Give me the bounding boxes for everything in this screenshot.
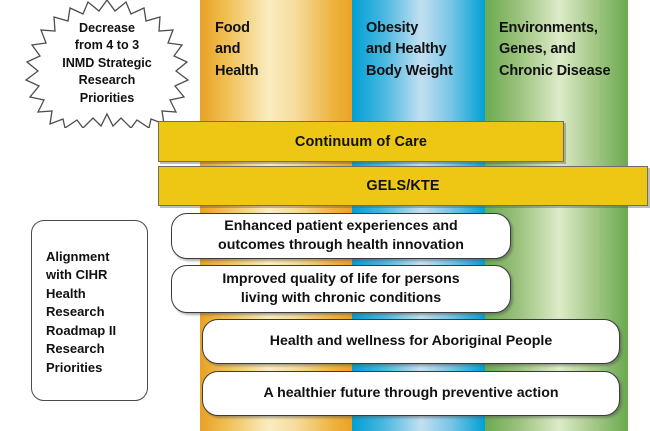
priority-pill-label-3: Health and wellness for Aboriginal Peopl… xyxy=(260,332,563,351)
bar-label-gels-kte: GELS/KTE xyxy=(366,178,439,194)
priority-pill-improved-quality-of-life[interactable]: Improved quality of life for persons liv… xyxy=(171,265,511,313)
column-label-food-and-health: Food and Health xyxy=(215,18,258,82)
column-label-obesity-and-healthy-body-weight: Obesity and Healthy Body Weight xyxy=(366,18,453,82)
diagram-canvas: Food and Health Obesity and Healthy Body… xyxy=(0,0,650,431)
alignment-card-text: Alignment with CIHR Health Research Road… xyxy=(46,248,139,377)
alignment-card: Alignment with CIHR Health Research Road… xyxy=(31,220,148,401)
priority-pill-label-2: Improved quality of life for persons liv… xyxy=(212,270,469,307)
bar-gels-kte[interactable]: GELS/KTE xyxy=(158,166,648,206)
priority-pill-enhanced-patient-experiences[interactable]: Enhanced patient experiences and outcome… xyxy=(171,213,511,259)
column-label-environments-genes-and-chronic-disease: Environments, Genes, and Chronic Disease xyxy=(499,18,610,82)
priority-pill-healthier-future-preventive-action[interactable]: A healthier future through preventive ac… xyxy=(202,371,620,416)
starburst-callout: Decrease from 4 to 3 INMD Strategic Rese… xyxy=(14,0,200,128)
bar-continuum-of-care[interactable]: Continuum of Care xyxy=(158,121,564,162)
column-environments-genes-and-chronic-disease: Environments, Genes, and Chronic Disease xyxy=(485,0,628,431)
starburst-callout-text: Decrease from 4 to 3 INMD Strategic Rese… xyxy=(14,20,200,107)
bar-label-continuum-of-care: Continuum of Care xyxy=(295,134,427,150)
priority-pill-aboriginal-health-wellness[interactable]: Health and wellness for Aboriginal Peopl… xyxy=(202,319,620,364)
priority-pill-label-1: Enhanced patient experiences and outcome… xyxy=(208,217,474,254)
priority-pill-label-4: A healthier future through preventive ac… xyxy=(253,384,568,403)
